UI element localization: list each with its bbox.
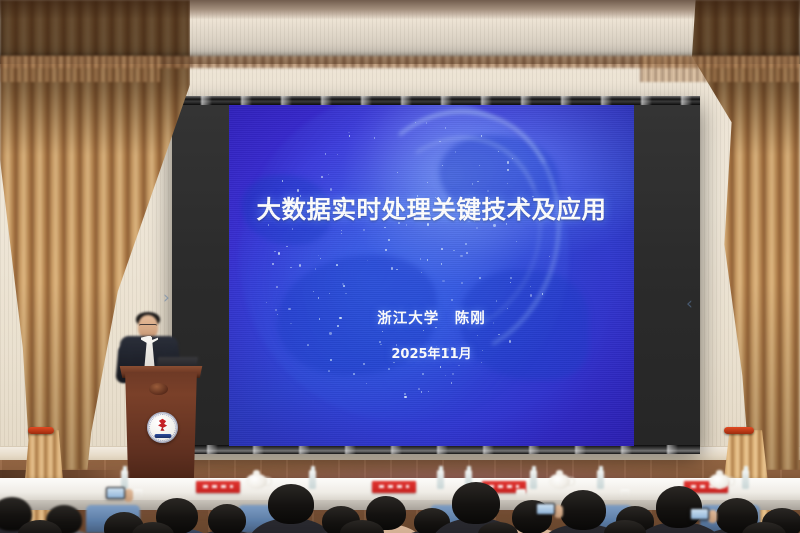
screen-right-panel [634, 105, 700, 446]
smartphone-screen [690, 508, 709, 520]
led-scanline-overlay [229, 105, 634, 446]
smartphone-screen [536, 503, 555, 515]
audience-hand [554, 505, 563, 518]
chevron-left-icon: ‹ [686, 296, 693, 313]
crest-base [154, 434, 171, 438]
chevron-right-icon: › [163, 290, 170, 307]
name-placard [372, 481, 416, 493]
valance-tail-left [0, 56, 160, 82]
name-placard [196, 481, 240, 493]
curtain-tieback-left [28, 427, 54, 434]
water-bottle [530, 470, 537, 489]
lecture-hall-photo: › ‹ 大数据实时处理关键技术及应用 浙江大学 陈刚 2025年11月 [0, 0, 800, 533]
water-bottle [309, 470, 316, 489]
speaker-glasses [139, 324, 157, 328]
audience-hand [124, 489, 133, 502]
curtain-valance [0, 0, 800, 64]
teapot [709, 474, 730, 489]
water-bottle [597, 470, 604, 489]
tea-cup [133, 489, 143, 498]
audience-hand [708, 510, 717, 523]
teapot [246, 474, 267, 489]
audience-member-head [268, 484, 314, 524]
audience-member-head [452, 482, 500, 524]
audience-member-head [208, 504, 246, 533]
teapot [549, 474, 570, 489]
curtain-tieback-right [724, 427, 754, 434]
smartphone-screen [106, 487, 125, 499]
audience-member-head [560, 490, 606, 530]
audience-member-head [656, 486, 702, 528]
presentation-slide: 大数据实时处理关键技术及应用 浙江大学 陈刚 2025年11月 [229, 105, 634, 446]
university-crest-icon [147, 412, 178, 443]
water-bottle [742, 470, 749, 489]
valance-tail-right [640, 56, 800, 82]
tea-cup [516, 489, 526, 498]
screen-bottom-bezel [172, 445, 700, 454]
screen-top-bezel [172, 96, 700, 105]
tea-cup [620, 489, 630, 498]
podium-knob [149, 383, 168, 395]
water-bottle [437, 470, 444, 489]
